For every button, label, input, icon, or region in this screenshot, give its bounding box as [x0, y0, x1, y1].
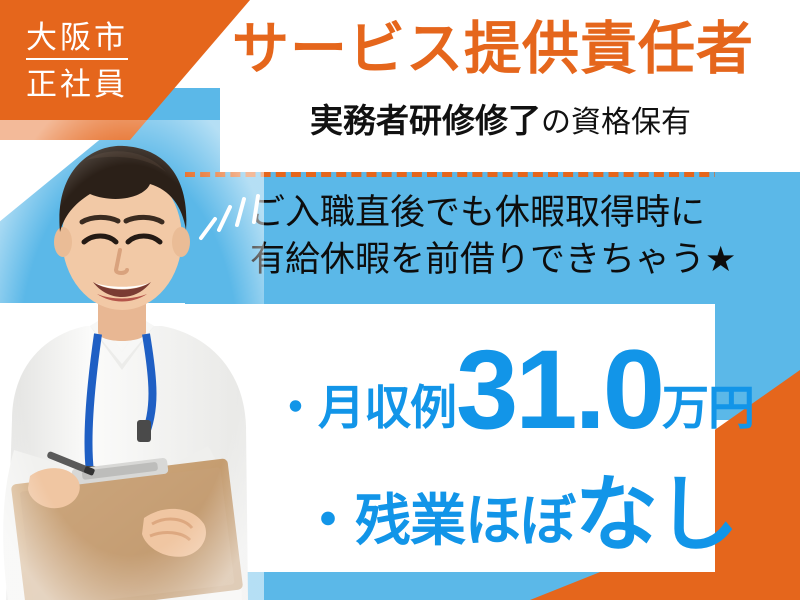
page-title: サービス提供責任者 — [232, 21, 754, 78]
salary-amount: 31.0 — [456, 334, 662, 446]
corner-badge: 大阪市 正社員 — [26, 22, 128, 100]
highlight-band-line1: ご入職直後でも休暇取得時に — [250, 190, 736, 237]
salary-unit: 万円 — [662, 384, 754, 431]
subtitle-qualification: 実務者研修修了 — [310, 102, 541, 139]
badge-employment-type: 正社員 — [26, 69, 128, 100]
subtitle-suffix: の資格保有 — [541, 106, 691, 139]
highlight-band-text: ご入職直後でも休暇取得時に 有給休暇を前借りできちゃう★ — [250, 190, 736, 283]
overtime-emphasis: なし — [575, 473, 737, 556]
badge-location: 大阪市 — [26, 22, 128, 60]
salary-highlight: ・月収例31.0万円 — [272, 330, 754, 442]
salary-label: 月収例 — [318, 384, 456, 431]
overtime-highlight: ・残業ほぼなし — [300, 470, 737, 553]
overtime-label: 残業ほぼ — [355, 493, 575, 549]
page-subtitle: 実務者研修修了の資格保有 — [310, 104, 691, 138]
job-ad-banner: ご入職直後でも休暇取得時に 有給休暇を前借りできちゃう★ 大阪市 正社員 サービ… — [0, 0, 800, 600]
highlight-band-line2: 有給休暇を前借りできちゃう★ — [250, 237, 736, 284]
care-worker-photo — [0, 120, 264, 600]
salary-bullet: ・ — [272, 384, 318, 431]
overtime-bullet: ・ — [300, 493, 355, 549]
